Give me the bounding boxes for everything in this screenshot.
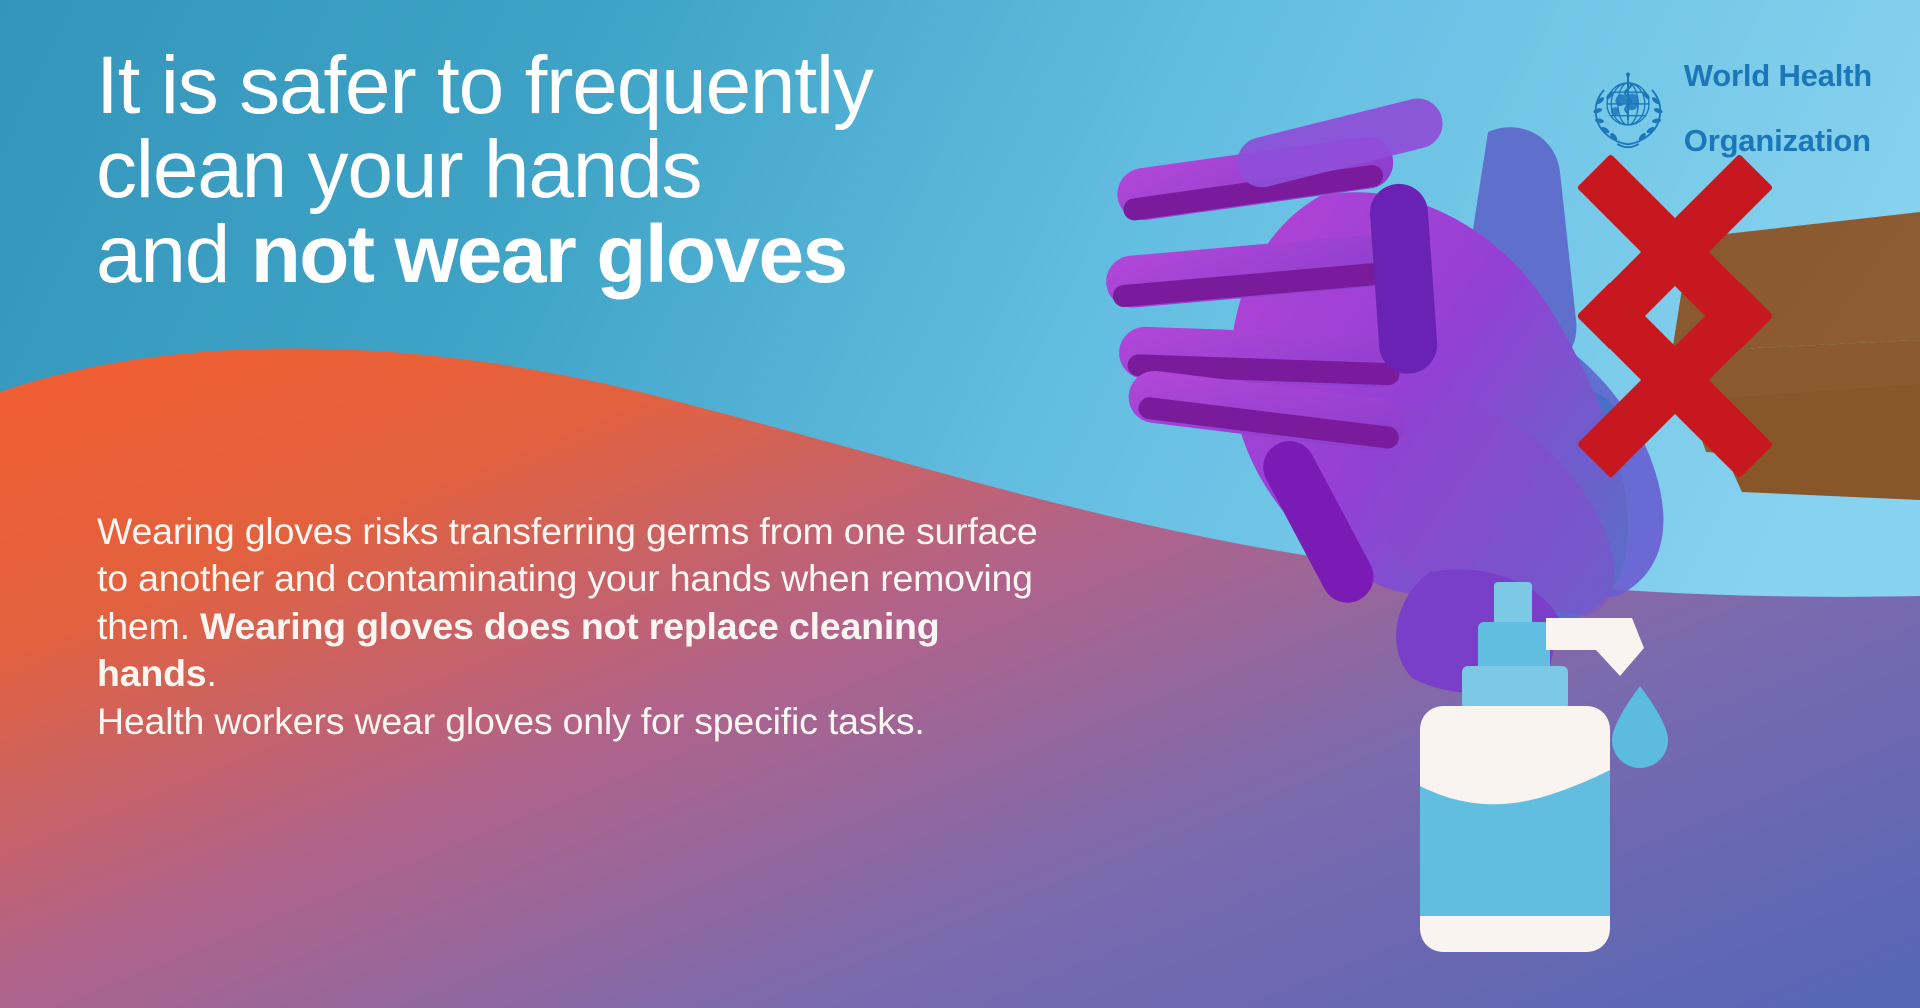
who-logo: World Health Organization (1586, 28, 1872, 189)
body-para1-regular-b: . (206, 652, 216, 694)
body-paragraph-1: Wearing gloves risks transferring germs … (97, 508, 1057, 698)
body-copy: Wearing gloves risks transferring germs … (97, 508, 1057, 745)
headline: It is safer to frequently clean your han… (96, 44, 873, 297)
body-paragraph-2: Health workers wear gloves only for spec… (97, 698, 1057, 745)
poster-canvas: World Health Organization It is safer to… (0, 0, 1920, 1008)
headline-line-2: clean your hands (96, 128, 873, 212)
body-para1-bold: Wearing gloves does not replace cleaning… (97, 605, 939, 694)
who-emblem-icon (1586, 67, 1670, 151)
sanitizer-droplet (1612, 686, 1668, 768)
headline-line-3-bold: not wear gloves (251, 209, 847, 300)
who-wordmark-line2: Organization (1684, 125, 1872, 157)
headline-line-3-regular: and (96, 209, 251, 300)
headline-line-3: and not wear gloves (96, 213, 873, 297)
headline-line-1: It is safer to frequently (96, 44, 873, 128)
red-cross-mark (1577, 154, 1774, 479)
who-wordmark-line1: World Health (1684, 60, 1872, 92)
who-wordmark: World Health Organization (1684, 28, 1872, 189)
